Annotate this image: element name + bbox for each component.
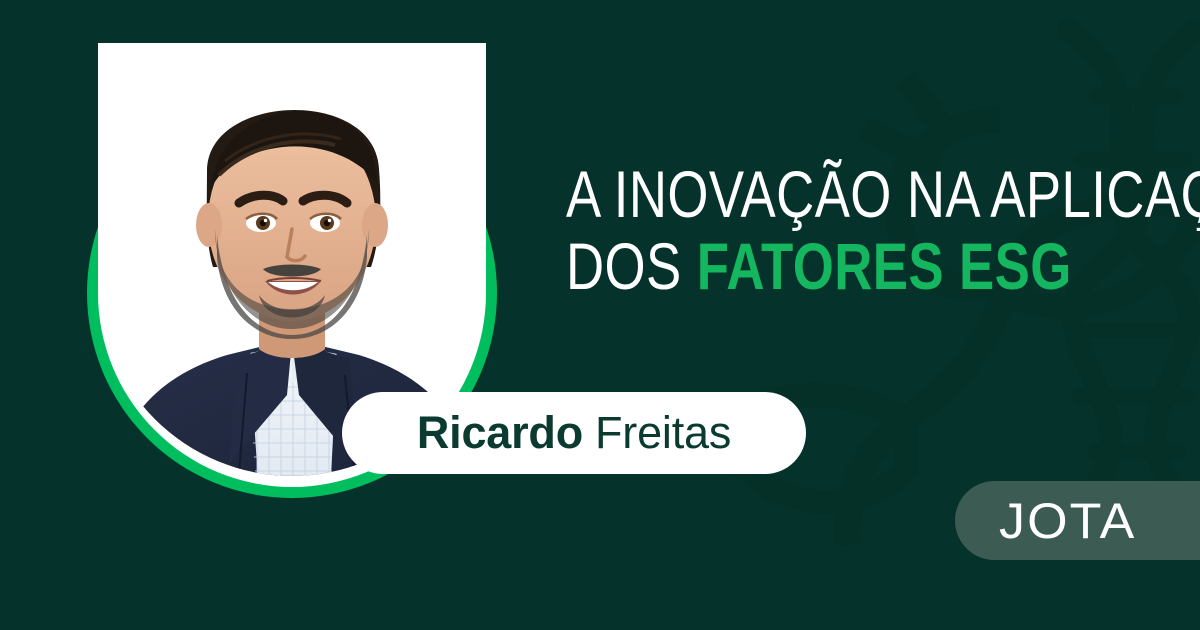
jota-logo-pill: JOTA — [955, 481, 1200, 560]
headline-accent: FATORES ESG — [697, 229, 1072, 303]
speaker-first-name: Ricardo — [417, 407, 583, 459]
headline-line-1: A INOVAÇÃO NA APLICAÇÃO — [566, 158, 1046, 230]
headline-line-2-prefix: DOS — [566, 229, 697, 303]
headline-line-2: DOS FATORES ESG — [566, 230, 1046, 302]
speaker-last-name: Freitas — [583, 407, 731, 459]
sprout-leaf-icon — [714, 78, 1196, 545]
speaker-name-badge: Ricardo Freitas — [342, 392, 806, 474]
social-banner: A INOVAÇÃO NA APLICAÇÃO DOS FATORES ESG … — [0, 0, 1200, 630]
jota-logo-text: JOTA — [999, 492, 1136, 550]
headline: A INOVAÇÃO NA APLICAÇÃO DOS FATORES ESG — [566, 158, 1166, 302]
